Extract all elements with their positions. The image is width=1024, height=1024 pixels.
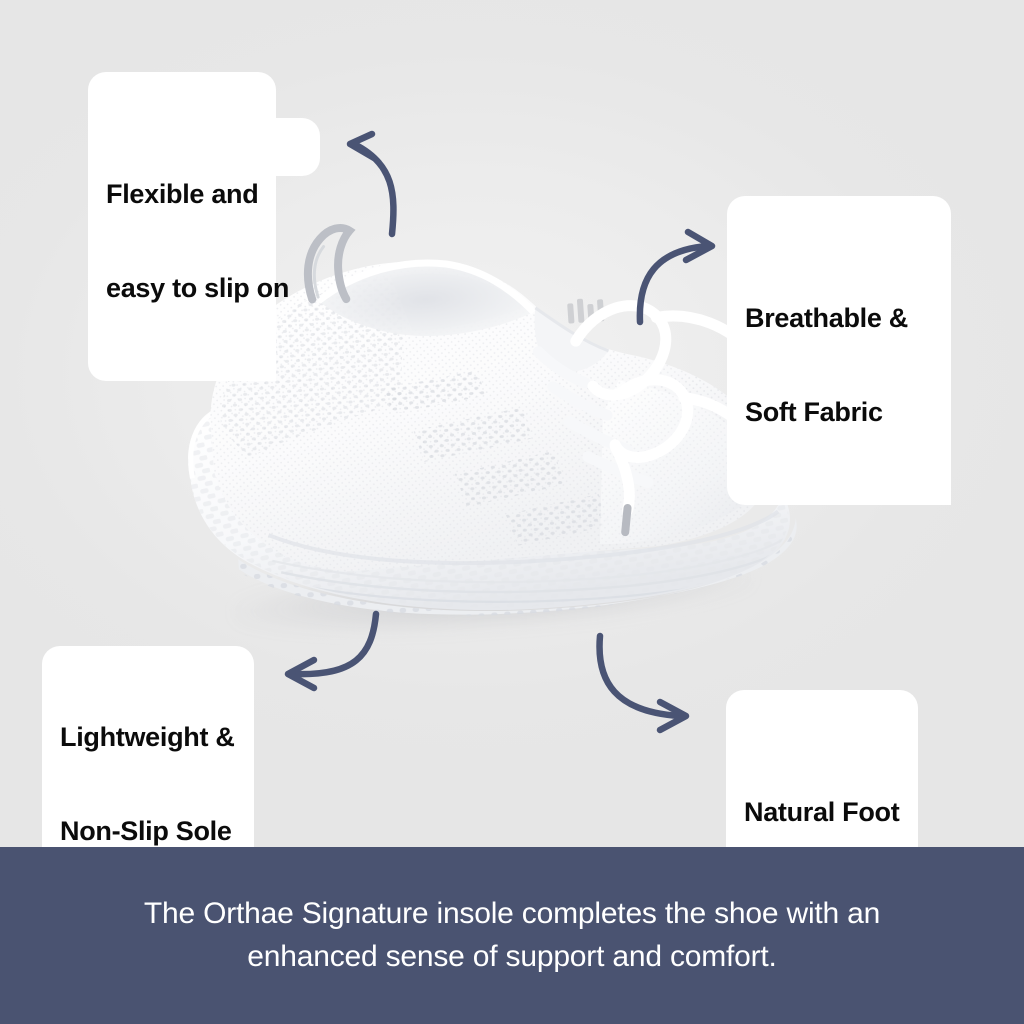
feature-label-natural-line1: Natural Foot <box>744 797 900 828</box>
feature-label-lightweight: Lightweight & Non-Slip Sole <box>42 646 254 847</box>
feature-label-flexible-line2: easy to slip on <box>106 273 258 304</box>
caption-band: The Orthae Signature insole completes th… <box>0 847 1024 1024</box>
feature-label-lightweight-line2: Non-Slip Sole <box>60 816 236 847</box>
label-notch-fill <box>727 242 923 302</box>
product-hero-area: Flexible and easy to slip on Breathable … <box>0 0 1024 847</box>
feature-label-breathable-line1: Breathable & <box>745 303 933 334</box>
label-notch-fill <box>276 118 278 176</box>
arrow-to-natural-label <box>588 630 708 738</box>
infographic-canvas: Flexible and easy to slip on Breathable … <box>0 0 1024 1024</box>
feature-label-breathable-line2: Soft Fabric <box>745 397 933 428</box>
feature-label-breathable: Breathable & Soft Fabric <box>727 196 951 505</box>
feature-label-flexible: Flexible and easy to slip on <box>88 72 276 381</box>
feature-label-flexible-line1: Flexible and <box>106 179 258 210</box>
feature-label-natural: Natural Foot Support <box>726 690 918 847</box>
caption-text: The Orthae Signature insole completes th… <box>82 893 942 978</box>
feature-label-lightweight-line1: Lightweight & <box>60 722 236 753</box>
label-notch-fill <box>726 736 894 796</box>
